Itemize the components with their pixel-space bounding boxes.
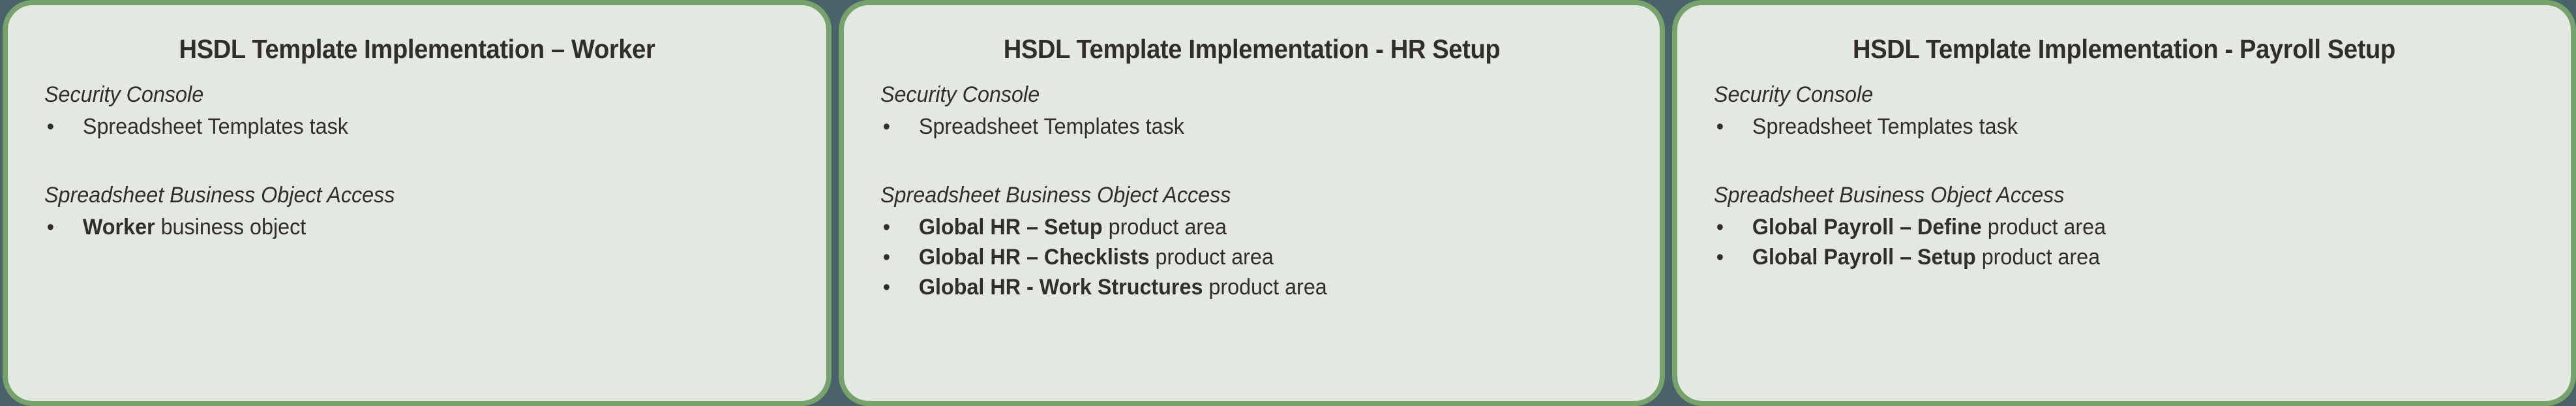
section-heading: Security Console xyxy=(880,82,1621,108)
bullet-list: •Spreadsheet Templates task xyxy=(44,112,826,142)
bullet-list: •Spreadsheet Templates task xyxy=(1714,112,2571,142)
bullet-icon: • xyxy=(47,212,54,242)
bullet-list: •Global HR – Setup product area •Global … xyxy=(880,212,1660,302)
bullet-icon: • xyxy=(1716,242,1724,272)
card-body: Security Console •Spreadsheet Templates … xyxy=(844,82,1660,302)
list-item: •Global HR – Setup product area xyxy=(880,212,1621,242)
list-item-text: product area xyxy=(1976,245,2100,270)
list-item-strong: Global HR - Work Structures xyxy=(919,275,1203,300)
section-spreadsheet-business-object-access: Spreadsheet Business Object Access •Glob… xyxy=(880,182,1660,302)
card-body: Security Console •Spreadsheet Templates … xyxy=(1677,82,2571,272)
section-heading: Security Console xyxy=(44,82,787,108)
list-item: •Spreadsheet Templates task xyxy=(44,112,787,142)
section-security-console: Security Console •Spreadsheet Templates … xyxy=(1714,82,2571,142)
bullet-icon: • xyxy=(883,112,890,142)
list-item-strong: Global Payroll – Define xyxy=(1752,215,1982,240)
list-item: •Spreadsheet Templates task xyxy=(880,112,1621,142)
card-title: HSDL Template Implementation - HR Setup xyxy=(873,5,1631,64)
card-hr-setup: HSDL Template Implementation - HR Setup … xyxy=(839,0,1665,406)
list-item-text: business object xyxy=(155,215,307,240)
bullet-icon: • xyxy=(883,242,890,272)
card-worker: HSDL Template Implementation – Worker Se… xyxy=(3,0,831,406)
list-item: •Worker business object xyxy=(44,212,787,242)
bullet-icon: • xyxy=(883,272,890,302)
list-item-text: product area xyxy=(1103,215,1227,240)
list-item-text: product area xyxy=(1982,215,2106,240)
section-spreadsheet-business-object-access: Spreadsheet Business Object Access •Glob… xyxy=(1714,182,2571,272)
section-heading: Security Console xyxy=(1714,82,2528,108)
bullet-list: •Global Payroll – Define product area •G… xyxy=(1714,212,2571,272)
list-item: •Global Payroll – Define product area xyxy=(1714,212,2528,242)
list-item: •Global Payroll – Setup product area xyxy=(1714,242,2528,272)
list-item-text: Spreadsheet Templates task xyxy=(1752,114,2018,139)
bullet-icon: • xyxy=(883,212,890,242)
section-heading: Spreadsheet Business Object Access xyxy=(880,182,1621,208)
list-item-strong: Global Payroll – Setup xyxy=(1752,245,1976,270)
list-item: •Global HR – Checklists product area xyxy=(880,242,1621,272)
bullet-list: •Worker business object xyxy=(44,212,826,242)
section-heading: Spreadsheet Business Object Access xyxy=(44,182,787,208)
card-body: Security Console •Spreadsheet Templates … xyxy=(8,82,826,242)
list-item-text: product area xyxy=(1203,275,1326,300)
bullet-list: •Spreadsheet Templates task xyxy=(880,112,1660,142)
section-spreadsheet-business-object-access: Spreadsheet Business Object Access •Work… xyxy=(44,182,826,242)
list-item-strong: Global HR – Setup xyxy=(919,215,1103,240)
list-item: •Global HR - Work Structures product are… xyxy=(880,272,1621,302)
list-item-text: Spreadsheet Templates task xyxy=(83,114,348,139)
section-heading: Spreadsheet Business Object Access xyxy=(1714,182,2528,208)
slide-canvas: HSDL Template Implementation – Worker Se… xyxy=(0,0,2576,406)
bullet-icon: • xyxy=(47,112,54,142)
list-item-strong: Worker xyxy=(83,215,155,240)
section-security-console: Security Console •Spreadsheet Templates … xyxy=(44,82,826,142)
list-item-strong: Global HR – Checklists xyxy=(919,245,1150,270)
card-title: HSDL Template Implementation – Worker xyxy=(37,5,798,64)
list-item-text: Spreadsheet Templates task xyxy=(919,114,1184,139)
bullet-icon: • xyxy=(1716,212,1724,242)
bullet-icon: • xyxy=(1716,112,1724,142)
list-item-text: product area xyxy=(1150,245,1274,270)
card-payroll-setup: HSDL Template Implementation - Payroll S… xyxy=(1672,0,2576,406)
section-security-console: Security Console •Spreadsheet Templates … xyxy=(880,82,1660,142)
list-item: •Spreadsheet Templates task xyxy=(1714,112,2528,142)
card-title: HSDL Template Implementation - Payroll S… xyxy=(1709,5,2539,64)
